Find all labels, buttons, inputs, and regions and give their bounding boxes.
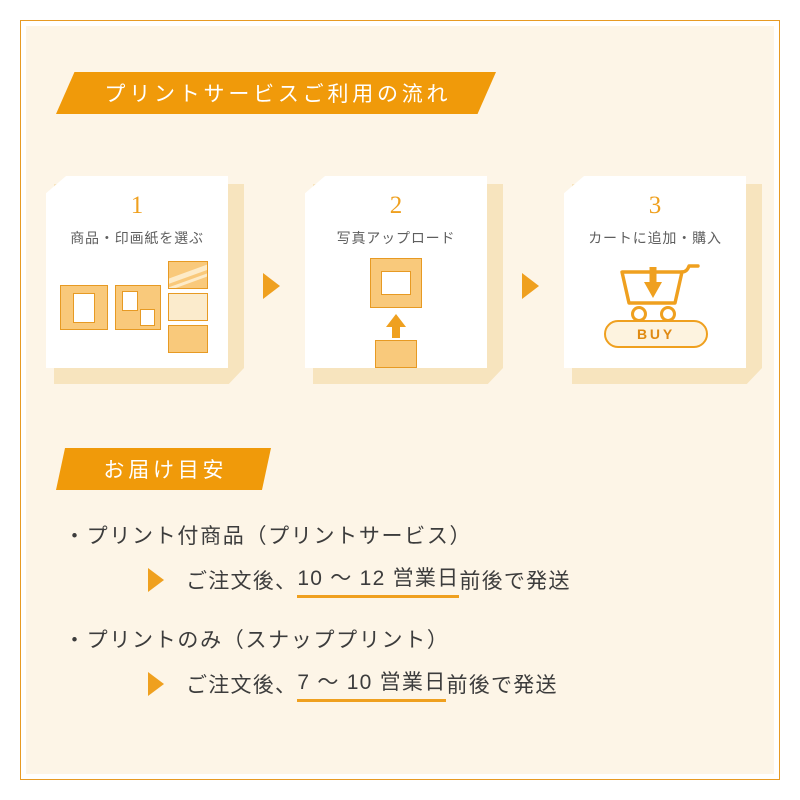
section-banner-flow-label: プリントサービスご利用の流れ — [101, 78, 452, 108]
frame-window — [122, 291, 138, 311]
triangle-bullet-icon — [148, 568, 164, 592]
upload-arrow-stem — [392, 326, 400, 338]
delivery-item-title: ・プリント付商品（プリントサービス） — [64, 520, 764, 550]
card-face: 1 商品・印画紙を選ぶ — [46, 176, 228, 368]
source-photo-icon — [375, 340, 417, 368]
step-card-3[interactable]: 3 カートに追加・購入 — [564, 176, 754, 376]
cart-svg — [564, 258, 746, 328]
delivery-item-title: ・プリントのみ（スナッププリント） — [64, 624, 764, 654]
buy-button-label: BUY — [637, 326, 675, 342]
section-banner-delivery: お届け目安 — [56, 448, 271, 490]
delivery-estimate-list: ・プリント付商品（プリントサービス） ご注文後、 10 〜 12 営業日 前後で… — [64, 520, 764, 702]
delivery-detail-prefix: ご注文後、 — [186, 565, 297, 595]
frame-window — [381, 271, 411, 295]
buy-button[interactable]: BUY — [604, 320, 708, 348]
section-banner-flow: プリントサービスご利用の流れ — [56, 72, 496, 114]
step-label-1: 商品・印画紙を選ぶ — [46, 228, 228, 248]
delivery-item: ・プリントのみ（スナッププリント） ご注文後、 7 〜 10 営業日 前後で発送 — [64, 624, 764, 702]
photo-upload-icon — [305, 258, 487, 363]
step-label-2: 写真アップロード — [305, 228, 487, 248]
shopping-cart-icon: BUY — [564, 258, 746, 363]
frames-and-photo-paper-icon — [46, 258, 228, 363]
photo-frame-icon — [370, 258, 422, 308]
step-number-1: 1 — [46, 192, 228, 220]
step-label-3: カートに追加・購入 — [564, 228, 746, 248]
paper-solid-icon — [168, 325, 208, 353]
infographic-page: プリントサービスご利用の流れ 1 商品・印画紙を選ぶ — [0, 0, 800, 800]
card-face: 2 写真アップロード — [305, 176, 487, 368]
card-face: 3 カートに追加・購入 — [564, 176, 746, 368]
frame-single-icon — [60, 285, 108, 330]
delivery-detail-prefix: ご注文後、 — [186, 669, 297, 699]
delivery-detail-highlight: 7 〜 10 営業日 — [297, 666, 446, 702]
frame-window — [140, 309, 155, 326]
delivery-item: ・プリント付商品（プリントサービス） ご注文後、 10 〜 12 営業日 前後で… — [64, 520, 764, 598]
section-banner-delivery-label: お届け目安 — [100, 454, 228, 484]
delivery-item-detail: ご注文後、 10 〜 12 営業日 前後で発送 — [64, 562, 764, 598]
delivery-detail-suffix: 前後で発送 — [446, 669, 557, 699]
step-card-2[interactable]: 2 写真アップロード — [305, 176, 495, 376]
frame-window — [73, 293, 95, 323]
paper-matte-icon — [168, 293, 208, 321]
step-number-2: 2 — [305, 192, 487, 220]
delivery-detail-highlight: 10 〜 12 営業日 — [297, 562, 459, 598]
delivery-item-detail: ご注文後、 7 〜 10 営業日 前後で発送 — [64, 666, 764, 702]
triangle-bullet-icon — [148, 672, 164, 696]
delivery-detail-suffix: 前後で発送 — [459, 565, 570, 595]
step-number-3: 3 — [564, 192, 746, 220]
paper-glossy-icon — [168, 261, 208, 289]
frame-double-icon — [115, 285, 161, 330]
step-card-1[interactable]: 1 商品・印画紙を選ぶ — [46, 176, 236, 376]
